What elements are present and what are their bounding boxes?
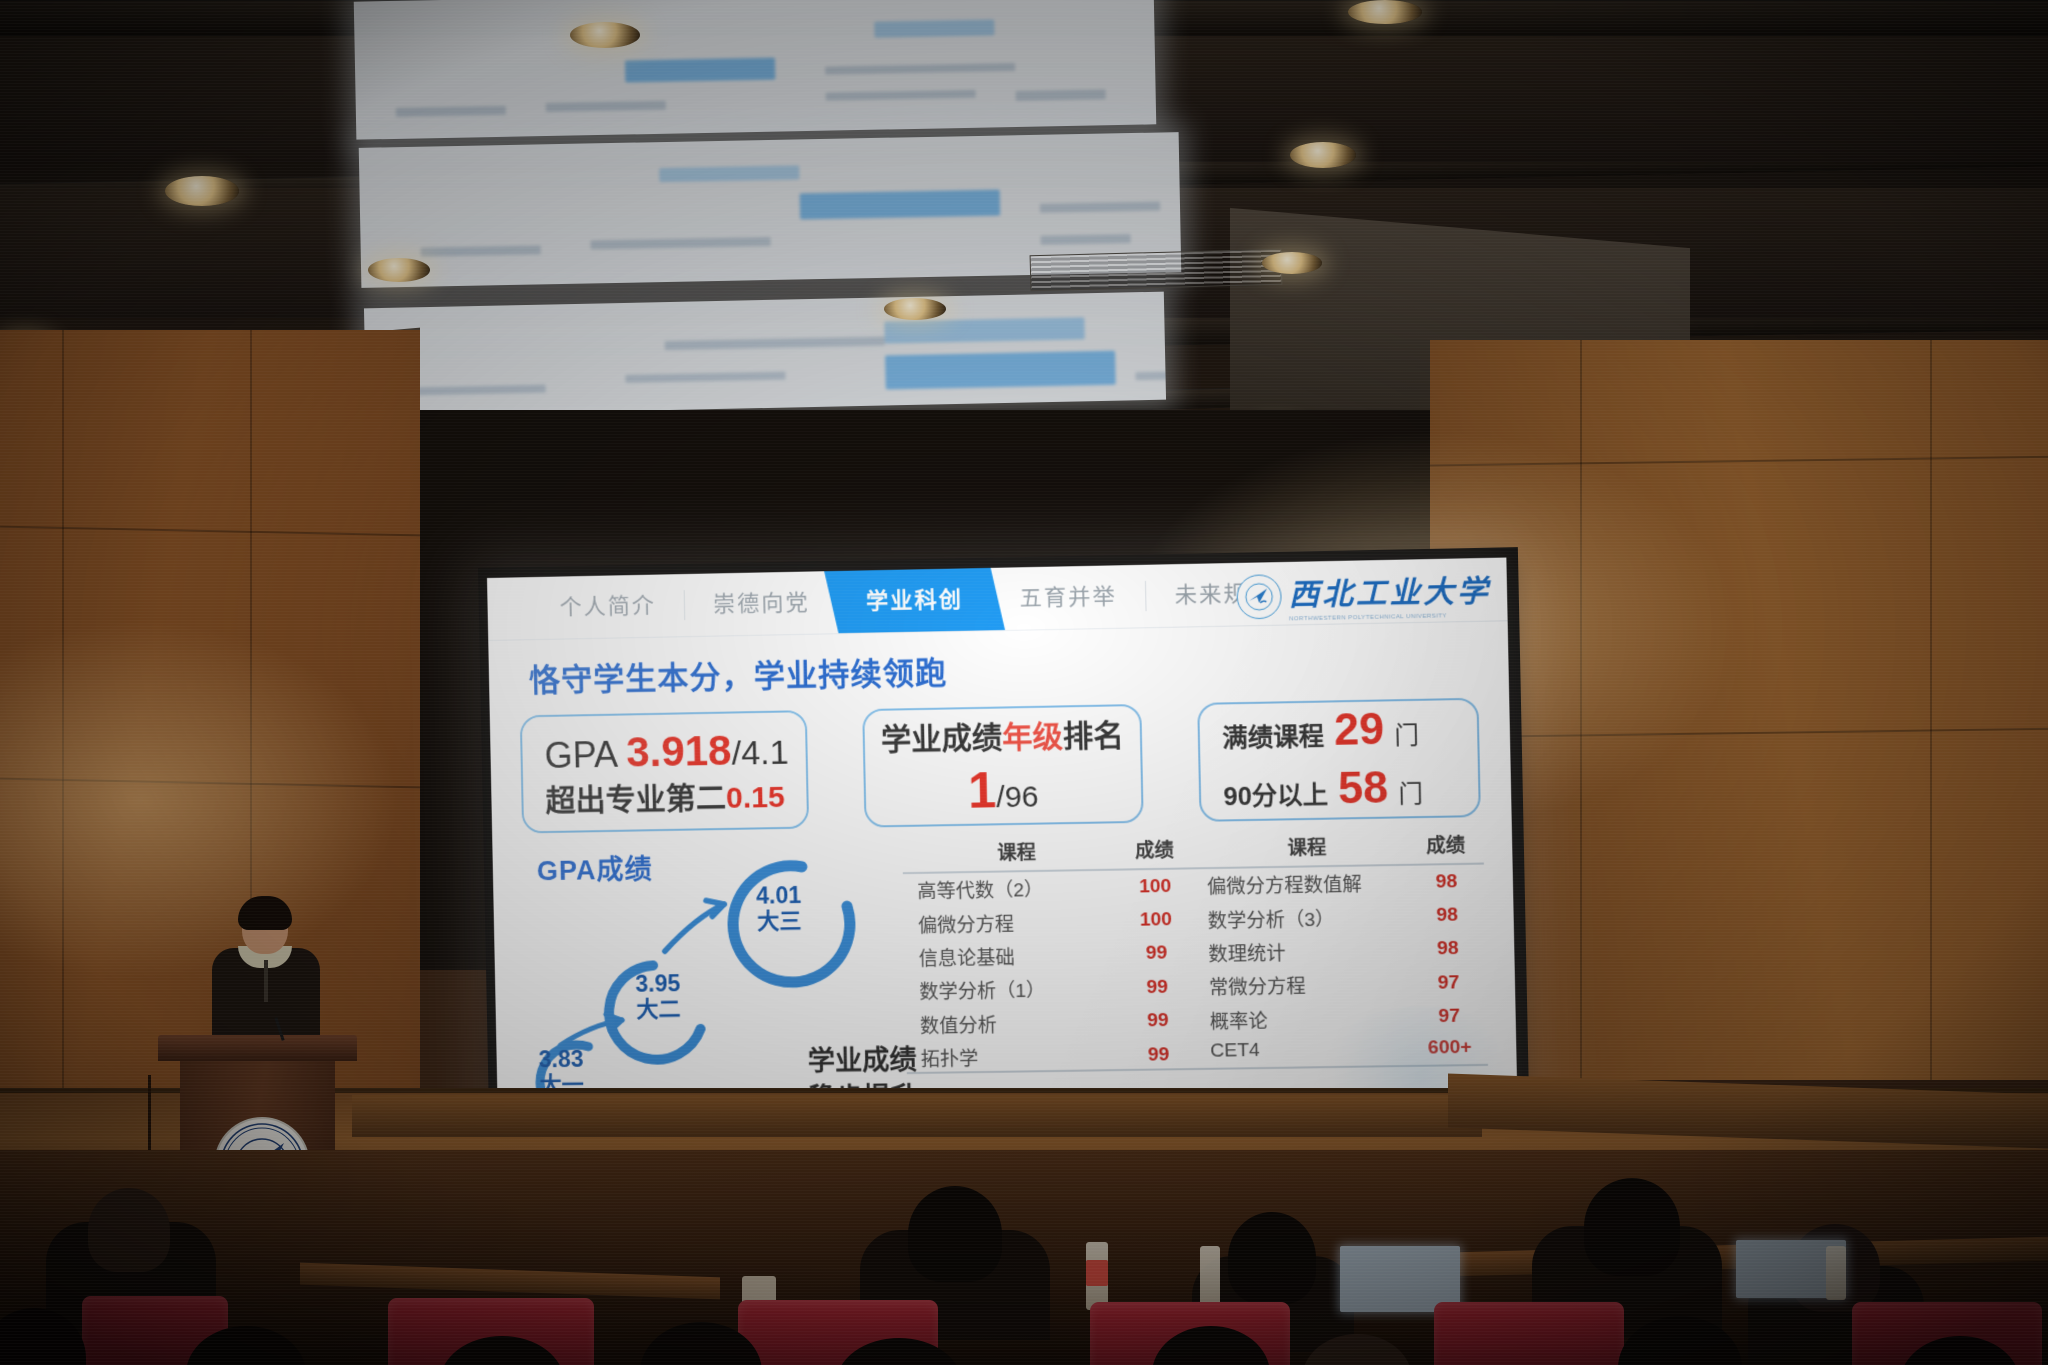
above-90-unit: 门 bbox=[1398, 774, 1423, 810]
gpa-ring-label-y2: 3.95 大二 bbox=[635, 971, 681, 1022]
stat-box-gpa: GPA 3.918/4.1 超出专业第二0.15 bbox=[520, 710, 809, 833]
table-row: 偏微分方程100 bbox=[904, 903, 1194, 941]
gpa-value: 3.918 bbox=[626, 726, 732, 775]
nav-tab-academics-innovation[interactable]: 学业科创 bbox=[837, 568, 992, 633]
gpa-lead-label: 超出专业第二 bbox=[545, 782, 726, 818]
university-seal-icon bbox=[1236, 574, 1282, 619]
ceiling-downlight bbox=[1290, 142, 1356, 168]
gpa-progression-chart: GPA成绩 3.83 大一 bbox=[526, 843, 913, 1118]
ceiling-reflection-strip bbox=[364, 292, 1166, 417]
above-90-value: 58 bbox=[1338, 763, 1389, 814]
above-90-label: 90分以上 bbox=[1223, 775, 1328, 813]
slide-headline: 恪守学生本分，学业持续领跑 bbox=[529, 647, 948, 700]
bottle-cap bbox=[1086, 1260, 1108, 1286]
nav-tab-five-education[interactable]: 五育并举 bbox=[991, 565, 1146, 630]
gpa-ring-value-y3: 4.01 bbox=[756, 883, 802, 910]
above-90-row: 90分以上 58 门 bbox=[1223, 762, 1456, 817]
gpa-line: GPA 3.918/4.1 bbox=[544, 724, 784, 778]
col-header-course-right: 课程 bbox=[1192, 828, 1409, 868]
stat-box-row: GPA 3.918/4.1 超出专业第二0.15 学业成绩年级排名 1/96 bbox=[520, 698, 1481, 834]
full-score-label: 满绩课程 bbox=[1222, 717, 1325, 755]
podium-top bbox=[158, 1035, 357, 1061]
col-header-score-left: 成绩 bbox=[1117, 832, 1193, 870]
water-bottle bbox=[1200, 1246, 1220, 1310]
course-name: 数理统计 bbox=[1194, 933, 1411, 970]
full-score-value: 29 bbox=[1334, 705, 1385, 756]
course-name: 数学分析（3） bbox=[1193, 900, 1410, 937]
seat bbox=[1434, 1302, 1624, 1365]
ceiling-downlight bbox=[570, 22, 640, 48]
air-vent bbox=[1030, 249, 1283, 292]
audience-head bbox=[1228, 1212, 1316, 1304]
rank-value-line: 1/96 bbox=[967, 760, 1039, 820]
col-header-score-right: 成绩 bbox=[1408, 827, 1484, 865]
front-row-desk bbox=[300, 1263, 720, 1300]
ceiling-downlight bbox=[1262, 252, 1322, 274]
rank-label-b: 年级 bbox=[1002, 720, 1063, 754]
table-row: 数学分析（1）99 bbox=[905, 970, 1195, 1008]
audience-head bbox=[88, 1188, 170, 1272]
course-score: 99 bbox=[1121, 1038, 1197, 1073]
gpa-ring-label-y3: 4.01 大三 bbox=[756, 883, 802, 934]
table-row: 常微分方程97 bbox=[1194, 966, 1486, 1004]
course-name: 数值分析 bbox=[906, 1005, 1121, 1042]
water-bottle bbox=[1826, 1246, 1846, 1300]
full-score-unit: 门 bbox=[1394, 715, 1419, 751]
course-score: 100 bbox=[1117, 868, 1193, 904]
rank-value: 1 bbox=[967, 762, 996, 819]
course-score: 98 bbox=[1408, 864, 1484, 900]
table-row: 信息论基础99 bbox=[904, 937, 1194, 975]
course-name: 常微分方程 bbox=[1194, 967, 1411, 1004]
gpa-ring-value-y2: 3.95 bbox=[635, 971, 680, 997]
course-name: 信息论基础 bbox=[904, 938, 1119, 975]
rank-total: /96 bbox=[996, 780, 1039, 814]
audience-head bbox=[908, 1186, 1002, 1282]
table-row: 数学分析（3）98 bbox=[1193, 898, 1485, 936]
course-name: 偏微分方程 bbox=[904, 904, 1119, 941]
ceiling-reflection-strip bbox=[354, 0, 1157, 140]
full-score-course-row: 满绩课程 29 门 bbox=[1222, 703, 1455, 758]
course-score: 98 bbox=[1409, 898, 1485, 933]
gpa-caption-line1: 学业成绩 bbox=[807, 1041, 917, 1080]
course-name: 高等代数（2） bbox=[903, 870, 1118, 908]
gpa-ring-value-y1: 3.83 bbox=[538, 1047, 583, 1073]
nav-tab-virtue-party[interactable]: 崇德向党 bbox=[684, 571, 838, 636]
ceiling-downlight bbox=[884, 298, 946, 320]
table-row: 数值分析99 bbox=[906, 1004, 1196, 1042]
nav-tab-personal-profile[interactable]: 个人简介 bbox=[531, 574, 685, 639]
audience-head bbox=[1584, 1178, 1680, 1276]
table-row: 高等代数（2）100 bbox=[903, 868, 1193, 907]
ceiling-downlight bbox=[368, 258, 430, 282]
university-logo-text: 西北工业大学 bbox=[1288, 566, 1491, 614]
table-header-row: 课程 成绩 bbox=[902, 832, 1192, 873]
rank-label-a: 学业成绩 bbox=[881, 722, 1003, 757]
gpa-lead-value: 0.15 bbox=[726, 781, 785, 815]
university-logo: 西北工业大学 NORTHWESTERN POLYTECHNICAL UNIVER… bbox=[1236, 566, 1491, 624]
ceiling-downlight bbox=[1348, 0, 1422, 24]
course-score: 99 bbox=[1120, 1004, 1196, 1039]
presenter bbox=[212, 898, 320, 1048]
course-score: 99 bbox=[1119, 970, 1195, 1005]
course-score: 97 bbox=[1410, 966, 1486, 1001]
gpa-ring-year-y3: 大三 bbox=[756, 909, 802, 934]
presenter-jacket-zip bbox=[264, 960, 268, 1002]
stage-step bbox=[352, 1095, 1482, 1137]
grade-table-left: 课程 成绩 高等代数（2）100 偏微分方程100 信息论基础99 数学分析（1… bbox=[902, 832, 1196, 1075]
gpa-ring-year-y2: 大二 bbox=[636, 997, 681, 1022]
gpa-lead-line: 超出专业第二0.15 bbox=[545, 780, 785, 820]
table-header-row: 课程 成绩 bbox=[1192, 827, 1484, 868]
course-score: 100 bbox=[1118, 903, 1194, 938]
stat-box-courses: 满绩课程 29 门 90分以上 58 门 bbox=[1197, 698, 1481, 822]
projection-screen: 个人简介 崇德向党 学业科创 五育并举 未来规划 bbox=[487, 558, 1518, 1146]
course-name: 数学分析（1） bbox=[905, 971, 1120, 1008]
col-header-course-left: 课程 bbox=[902, 833, 1117, 873]
ceiling-downlight bbox=[165, 176, 239, 206]
rank-label-c: 排名 bbox=[1063, 719, 1124, 753]
gpa-max: /4.1 bbox=[731, 733, 789, 772]
course-score: 98 bbox=[1410, 932, 1486, 967]
gpa-label: GPA bbox=[544, 733, 626, 776]
course-name: 偏微分方程数值解 bbox=[1192, 865, 1409, 903]
table-row: 偏微分方程数值解98 bbox=[1192, 864, 1484, 903]
presenter-hair bbox=[238, 896, 292, 930]
course-score: 99 bbox=[1119, 937, 1195, 972]
stat-box-rank: 学业成绩年级排名 1/96 bbox=[862, 704, 1144, 828]
audience-area bbox=[0, 1150, 2048, 1365]
rank-label-line: 学业成绩年级排名 bbox=[880, 710, 1124, 759]
table-row: 数理统计98 bbox=[1194, 932, 1486, 970]
presentation-slide: 个人简介 崇德向党 学业科创 五育并举 未来规划 bbox=[487, 558, 1518, 1146]
lecture-hall-photo: 个人简介 崇德向党 学业科创 五育并举 未来规划 bbox=[0, 0, 2048, 1365]
